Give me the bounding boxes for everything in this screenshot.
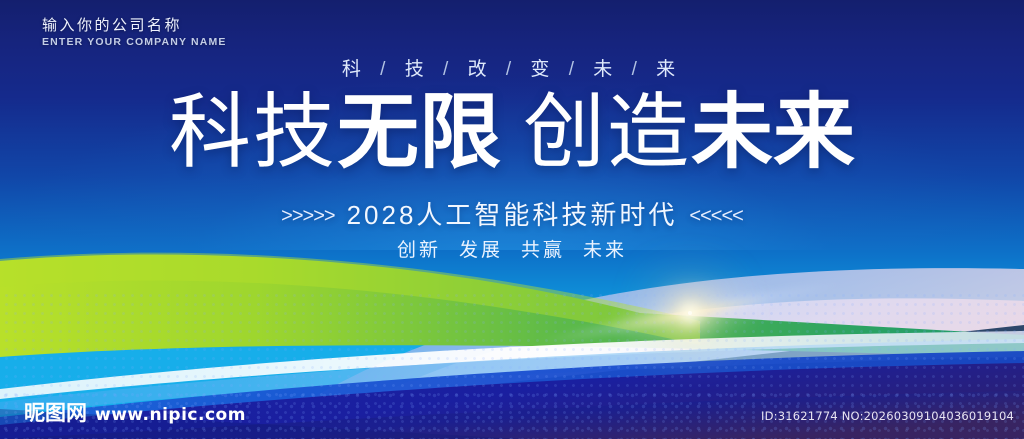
- asset-id-text: ID:31621774 NO:20260309104036019104: [761, 409, 1014, 423]
- top-slogan-separator: /: [569, 59, 581, 80]
- poster-canvas: 输入你的公司名称 ENTER YOUR COMPANY NAME 科 / 技 /…: [0, 0, 1024, 439]
- watermark-url: www.nipic.com: [95, 405, 246, 425]
- company-name-cn: 输入你的公司名称: [42, 16, 227, 36]
- tagline-word: 未来: [583, 240, 627, 261]
- lens-flare-core: [688, 311, 692, 315]
- site-watermark: 昵图网 www.nipic.com: [24, 397, 246, 427]
- company-name-en: ENTER YOUR COMPANY NAME: [42, 36, 227, 50]
- top-slogan-char: 改: [468, 59, 494, 80]
- sub-headline-text: 2028人工智能科技新时代: [347, 200, 678, 230]
- arrows-right-icon: <<<<<: [689, 205, 742, 227]
- tagline: 创新发展共赢未来: [0, 235, 1024, 262]
- top-slogan-char: 变: [530, 59, 556, 80]
- top-slogan-separator: /: [443, 59, 455, 80]
- tagline-word: 共赢: [521, 240, 565, 261]
- arrows-left-icon: >>>>>: [281, 205, 334, 227]
- tagline-word: 发展: [459, 240, 503, 261]
- headline-part-1: 科技: [169, 87, 337, 178]
- top-slogan-char: 来: [656, 59, 682, 80]
- top-slogan-char: 技: [405, 59, 431, 80]
- main-headline: 科技无限创造未来: [0, 92, 1024, 174]
- top-slogan: 科 / 技 / 改 / 变 / 未 / 来: [0, 54, 1024, 81]
- top-slogan-separator: /: [380, 59, 392, 80]
- headline-part-4: 未来: [691, 87, 855, 178]
- headline-part-3: 创造: [523, 87, 691, 178]
- headline-part-2: 无限: [337, 87, 501, 178]
- company-name-block: 输入你的公司名称 ENTER YOUR COMPANY NAME: [42, 16, 227, 50]
- top-slogan-char: 科: [342, 59, 368, 80]
- tagline-word: 创新: [397, 240, 441, 261]
- top-slogan-char: 未: [593, 59, 619, 80]
- sub-headline: >>>>>2028人工智能科技新时代<<<<<: [0, 195, 1024, 232]
- watermark-logo: 昵图网: [24, 397, 87, 427]
- top-slogan-separator: /: [506, 59, 518, 80]
- top-slogan-separator: /: [632, 59, 644, 80]
